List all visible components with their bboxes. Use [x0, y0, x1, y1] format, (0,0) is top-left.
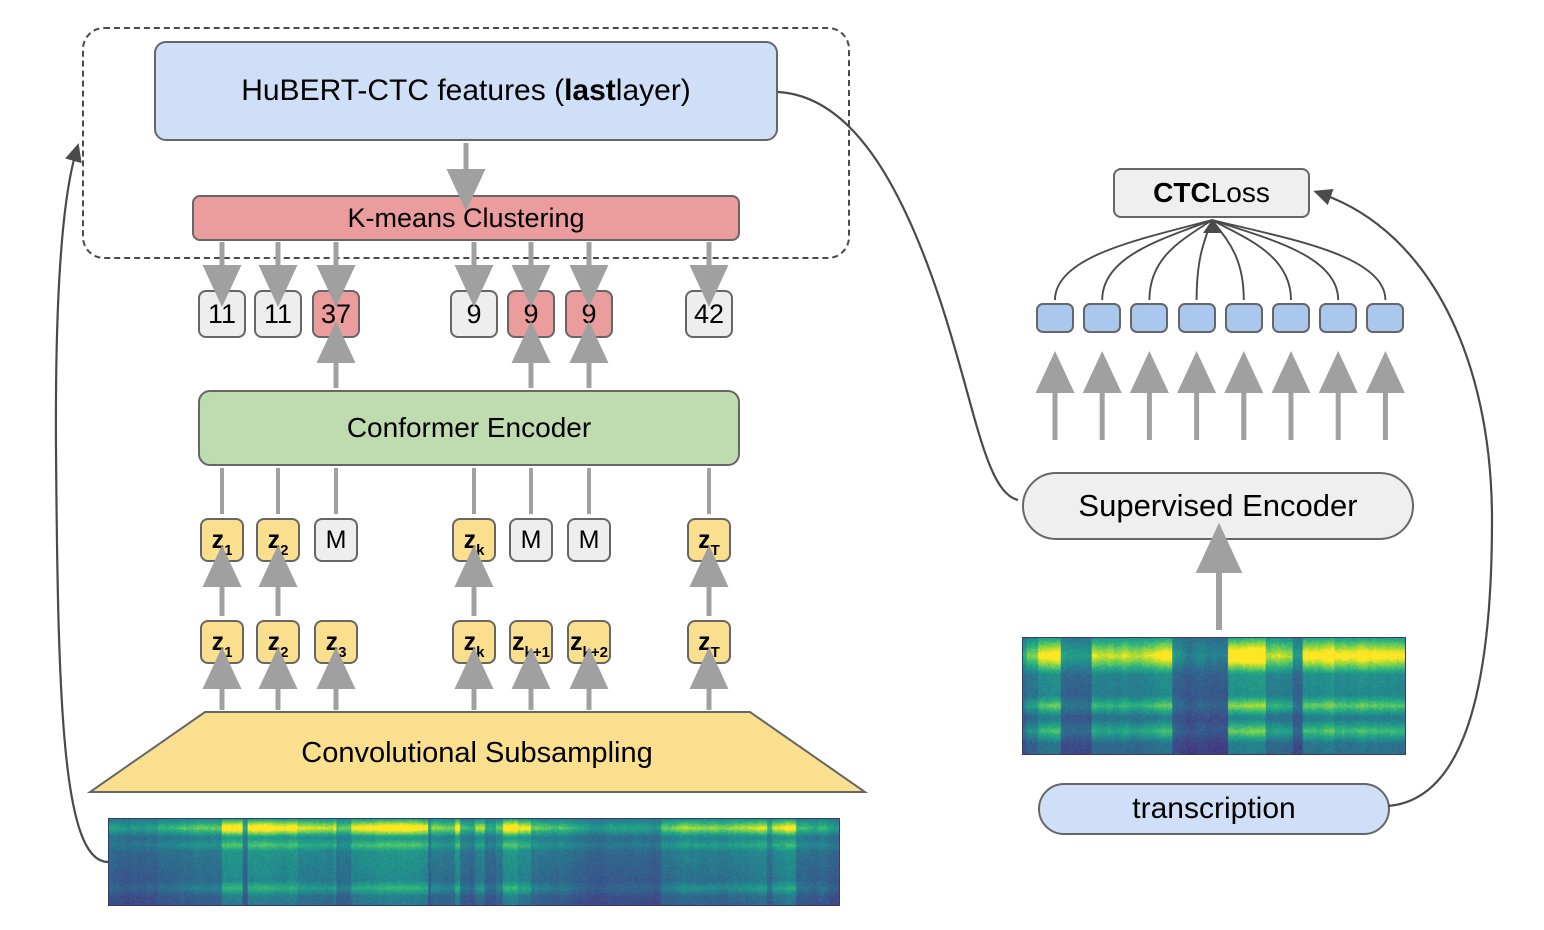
output-token[interactable]: [1366, 303, 1404, 333]
cluster-token-label: 11: [208, 299, 236, 330]
token-to-ctc-loss-edge: [1212, 220, 1338, 300]
output-token[interactable]: [1083, 303, 1121, 333]
output-token[interactable]: [1225, 303, 1263, 333]
feature-token[interactable]: z3: [314, 620, 358, 664]
kmeans-label: K-means Clustering: [347, 203, 584, 234]
cluster-token[interactable]: 11: [254, 290, 302, 338]
convolutional-subsampling-label: Convolutional Subsampling: [301, 737, 652, 769]
output-token[interactable]: [1272, 303, 1310, 333]
masked-token-label: z2: [268, 526, 289, 555]
ctc-loss-label-rest: Loss: [1211, 177, 1270, 209]
cluster-token-label: 11: [264, 299, 292, 330]
diagram-canvas: HuBERT-CTC features (last layer) K-means…: [0, 0, 1544, 930]
masked-token[interactable]: z2: [256, 518, 300, 562]
masked-token[interactable]: M: [567, 518, 611, 562]
masked-token-label: z1: [212, 526, 233, 555]
hubert-label-prefix: HuBERT-CTC features (: [241, 74, 564, 108]
cluster-token-label: 9: [466, 299, 481, 330]
cluster-token[interactable]: 9: [565, 290, 613, 338]
token-to-ctc-loss-edge: [1102, 220, 1212, 300]
supervised-encoder-label: Supervised Encoder: [1078, 488, 1357, 524]
output-token[interactable]: [1178, 303, 1216, 333]
output-token[interactable]: [1130, 303, 1168, 333]
conformer-label: Conformer Encoder: [347, 412, 591, 444]
token-to-ctc-loss-edge: [1212, 220, 1244, 300]
masked-token-label: zT: [698, 526, 720, 555]
hubert-ctc-features-box[interactable]: HuBERT-CTC features (last layer): [154, 41, 778, 141]
feature-token[interactable]: zk: [452, 620, 496, 664]
masked-token[interactable]: M: [509, 518, 553, 562]
token-to-ctc-loss-edge: [1149, 220, 1212, 300]
feature-token-label: z1: [212, 628, 233, 657]
token-to-ctc-loss-edge: [1212, 220, 1291, 300]
cluster-token[interactable]: 37: [312, 290, 360, 338]
ctc-fan-group: [1055, 220, 1385, 300]
token-to-ctc-loss-edge: [1212, 220, 1385, 300]
cluster-token-label: 42: [694, 299, 724, 330]
hubert-label-bold: last: [564, 74, 616, 108]
feature-token[interactable]: z1: [200, 620, 244, 664]
transcription-label: transcription: [1132, 792, 1295, 826]
ctc-loss-box[interactable]: CTC Loss: [1113, 168, 1310, 218]
cluster-token-label: 37: [321, 299, 351, 330]
conformer-encoder-box[interactable]: Conformer Encoder: [198, 390, 740, 466]
cluster-token[interactable]: 9: [450, 290, 498, 338]
cluster-token-label: 9: [523, 299, 538, 330]
token-to-ctc-loss-edge: [1197, 220, 1212, 300]
masked-token[interactable]: z1: [200, 518, 244, 562]
feature-token-label: zk+1: [512, 628, 550, 657]
supervised-encoder-box[interactable]: Supervised Encoder: [1022, 472, 1414, 540]
cluster-token[interactable]: 11: [198, 290, 246, 338]
feature-token-label: z3: [326, 628, 347, 657]
cluster-token[interactable]: 9: [507, 290, 555, 338]
ctc-loss-label-bold: CTC: [1153, 177, 1211, 209]
feature-token-label: zT: [698, 628, 720, 657]
masked-token-label: M: [326, 526, 347, 555]
feature-token[interactable]: zT: [687, 620, 731, 664]
output-token[interactable]: [1036, 303, 1074, 333]
hubert-label-suffix: layer): [616, 74, 691, 108]
masked-token-label: M: [521, 526, 542, 555]
input-spectrogram-left: [108, 818, 840, 906]
token-to-ctc-loss-edge: [1055, 220, 1212, 300]
feature-token-label: z2: [268, 628, 289, 657]
feature-token-label: zk: [464, 628, 485, 657]
input-spectrogram-right: [1022, 637, 1406, 755]
output-token[interactable]: [1319, 303, 1357, 333]
cluster-token[interactable]: 42: [685, 290, 733, 338]
masked-token-label: M: [579, 526, 600, 555]
transcription-box[interactable]: transcription: [1038, 783, 1390, 835]
convolutional-subsampling-shape[interactable]: [90, 712, 865, 792]
masked-token[interactable]: M: [314, 518, 358, 562]
cluster-token-label: 9: [581, 299, 596, 330]
feature-token[interactable]: zk+2: [567, 620, 611, 664]
kmeans-clustering-box[interactable]: K-means Clustering: [192, 195, 740, 241]
feature-token[interactable]: zk+1: [509, 620, 553, 664]
feature-token[interactable]: z2: [256, 620, 300, 664]
masked-token-label: zk: [464, 526, 485, 555]
ctc-loss-arrowhead: [1203, 220, 1221, 233]
feature-token-label: zk+2: [570, 628, 608, 657]
masked-token[interactable]: zk: [452, 518, 496, 562]
masked-token[interactable]: zT: [687, 518, 731, 562]
